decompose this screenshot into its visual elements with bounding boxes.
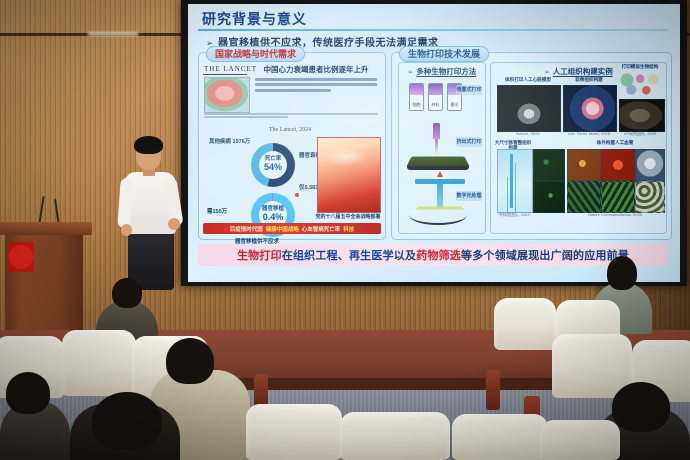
audience-head [166, 338, 214, 384]
presenter-hair [134, 136, 163, 154]
seat-armrest [486, 370, 500, 410]
seat [494, 298, 556, 350]
method-label-inkjet: 喷墨式打印 [456, 85, 482, 95]
abstract-line [255, 83, 377, 86]
article-source: The Lancet, 2024 [269, 127, 311, 133]
banner-seg-bioprinting: 生物打印 [237, 250, 282, 262]
tile-microscopy-green-1 [533, 149, 565, 181]
donut-chart-mortality: 死亡率 54% [251, 143, 295, 187]
slide-title: 研究背景与意义 [202, 9, 307, 29]
lancet-rule [203, 74, 247, 75]
tile-caption-heart: 体积打印人工心脏模型 [495, 78, 561, 83]
policy-poster-image [317, 137, 381, 213]
tile-fiber-1 [567, 181, 601, 213]
vial-icon: 材料 [428, 83, 443, 111]
banner-text-2: 健康中国战略 [266, 225, 299, 233]
method-label-extrusion: 挤出式打印 [456, 137, 482, 147]
podium-top [0, 222, 92, 235]
tile-caption-vessel: 体外构建人工血管 [565, 141, 665, 146]
dlp-stage [416, 207, 464, 210]
banner-seg-6: 等多个领域展现出广阔的应用前景 [461, 250, 629, 262]
body-line [204, 113, 378, 115]
tile-vascular-network [497, 149, 533, 213]
print-platform-edge [407, 166, 469, 170]
poster-caption: 党的十八届五中全会战略部署 [315, 213, 381, 220]
dlp-stem [437, 181, 443, 207]
bioprint-structure-icons [619, 71, 663, 97]
banner-text-1: 后疫情时代国 [230, 225, 263, 233]
slide-bottom-banner: 生物打印在组织工程、再生医学以及药物筛选等多个领域展现出广阔的应用前景 [198, 244, 668, 266]
tile-vessel-red [601, 149, 635, 181]
podium [5, 222, 83, 334]
method-label-dlp: 数字光处理 [456, 191, 482, 201]
article-title: 中国心力衰竭患者比例逐年上升 [255, 64, 377, 75]
tile-vessel-white [635, 149, 665, 181]
right-panel: 生物打印技术发展 ➢多种生物打印方法 细胞 材料 墨水 喷墨式打印 挤出式打印 [391, 52, 672, 240]
article-body-text [204, 111, 378, 120]
tile-source-ear: UT研究团队, 2009 [617, 132, 663, 136]
lancet-logo: THE LANCET [204, 65, 257, 73]
bullet-arrow-icon: ➢ [408, 69, 413, 76]
vial-icon: 细胞 [409, 83, 424, 111]
banner-seg-4: 以及 [394, 250, 416, 262]
donut-value: 54% [264, 163, 282, 173]
red-banner-strip: 后疫情时代国 健康中国战略 心血管病死亡率 科技 [203, 223, 381, 234]
tile-source-vessel: Nature Communications, 2024 [565, 213, 665, 217]
donut-value: 0.4% [263, 213, 284, 223]
audience-head [112, 278, 142, 308]
seat [452, 414, 548, 460]
tile-source-vascular: 中科院团队, 2024 [493, 213, 535, 217]
tile-microscopy-orange [567, 149, 601, 181]
ceiling-light [88, 32, 138, 36]
audience-head [607, 256, 637, 290]
audience-head [92, 392, 162, 450]
presenter-hand-left [121, 224, 132, 236]
extruder-nozzle-icon [433, 123, 440, 139]
tile-fiber-3 [635, 181, 665, 213]
banner-seg-drug-screening: 药物筛选 [416, 250, 461, 262]
tile-source-heart: Nature, 2024 [497, 132, 559, 136]
left-panel: 国家战略与时代需求 THE LANCET 中国心力衰竭患者比例逐年上升 The … [198, 52, 386, 240]
caption-demand: 需150万 [207, 209, 227, 216]
audience-head [6, 372, 50, 414]
donut-center: 死亡率 54% [259, 151, 287, 179]
tile-ear-scaffold [619, 99, 665, 132]
banner-seg-fields: 组织工程、再生医学 [293, 250, 394, 262]
printing-methods-title-text: 多种生物打印方法 [416, 67, 476, 76]
audience-head [612, 382, 670, 432]
printing-methods-box: ➢多种生物打印方法 细胞 材料 墨水 喷墨式打印 挤出式打印 数字光处理 [398, 62, 486, 234]
body-line [204, 116, 288, 118]
tile-fiber-2 [601, 181, 635, 213]
bottom-banner-text: 生物打印在组织工程、再生医学以及药物筛选等多个领域展现出广阔的应用前景 [237, 247, 629, 263]
left-panel-tag: 国家战略与时代需求 [206, 46, 305, 62]
tissue-examples-box: ➢人工组织构建实例 体积打印人工心脏模型 软骨组织构建 打印模拟生物结构 Nat… [490, 62, 667, 234]
banner-seg-2: 在 [282, 250, 293, 262]
seat-armrest [254, 374, 268, 408]
bullet-arrow-icon: ➢ [544, 69, 549, 76]
lancet-cover-image [204, 77, 250, 113]
banner-text-3: 心血管病死亡率 [302, 225, 341, 233]
tile-cartilage [563, 85, 617, 132]
seat [340, 412, 450, 460]
tile-source-cartilage: Adv. Funct. Mater, 2015 [561, 132, 617, 136]
printing-methods-title: ➢多种生物打印方法 [399, 66, 485, 77]
seat [246, 404, 342, 460]
tile-caption-icons: 打印模拟生物结构 [617, 65, 663, 70]
seat [540, 420, 620, 460]
vial-label: 细胞 [410, 102, 423, 108]
vial-label: 材料 [429, 102, 442, 108]
abstract-line [255, 78, 377, 81]
tile-caption-cartilage: 软骨组织构建 [563, 78, 615, 83]
abstract-line [255, 89, 331, 92]
caption-other-disease: 其他疾病 1576万 [209, 139, 250, 146]
seat [62, 330, 136, 396]
vial-label: 墨水 [448, 102, 461, 108]
marker-dot-icon [295, 193, 299, 197]
tile-microscopy-green-2 [533, 181, 565, 213]
presentation-slide: 研究背景与意义 ➢器官移植供不应求，传统医疗手段无法满足需求 国家战略与时代需求… [188, 4, 680, 282]
right-panel-tag: 生物打印技术发展 [399, 46, 489, 62]
up-arrow-icon [437, 171, 443, 177]
lecture-hall-photo: 研究背景与意义 ➢器官移植供不应求，传统医疗手段无法满足需求 国家战略与时代需求… [0, 0, 690, 460]
article-abstract [255, 75, 377, 94]
party-emblem-icon [8, 242, 34, 272]
tissue-examples-title-text: 人工组织构建实例 [553, 67, 613, 76]
title-divider [198, 29, 668, 31]
banner-text-4: 科技 [343, 225, 354, 233]
presenter-hand-right [168, 218, 180, 230]
tile-heart-model [497, 85, 561, 132]
